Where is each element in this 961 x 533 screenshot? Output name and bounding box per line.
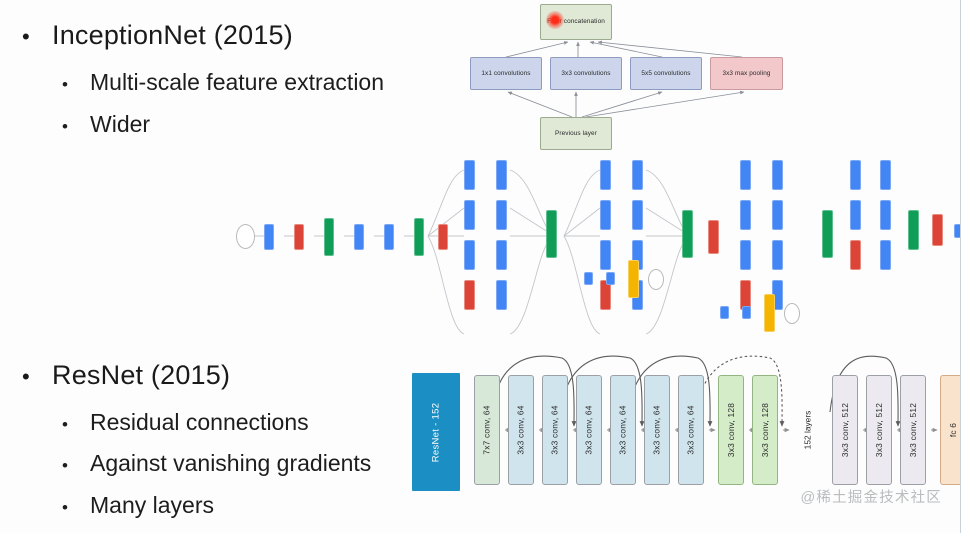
- googlenet-conv-node: [600, 160, 611, 190]
- box-label: 3x3 max pooling: [722, 70, 770, 78]
- googlenet-conv-node: [496, 200, 507, 230]
- bullet-glyph: •: [62, 499, 90, 516]
- googlenet-aux2-fc-node: [720, 306, 729, 319]
- googlenet-conv-node: [464, 200, 475, 230]
- box-label: 1x1 convolutions: [481, 70, 530, 78]
- resnet-block-3x3-conv-128: 3x3 conv, 128: [752, 375, 778, 485]
- resnet-block-3x3-conv-128: 3x3 conv, 128: [718, 375, 744, 485]
- bullet-glyph: •: [62, 76, 90, 93]
- googlenet-conv-node: [496, 280, 507, 310]
- bullet-against-vanishing-gradients: • Against vanishing gradients: [62, 450, 371, 477]
- bullet-glyph: •: [62, 416, 90, 433]
- box-label: Previous layer: [555, 130, 597, 138]
- googlenet-conv-node: [772, 200, 783, 230]
- bullet-glyph: •: [22, 26, 52, 48]
- bullet-text: Multi-scale feature extraction: [90, 69, 384, 96]
- bullet-text: InceptionNet (2015): [52, 20, 293, 51]
- inception-branch-3x3-conv: 3x3 convolutions: [550, 57, 622, 90]
- googlenet-aux1-output-node: [648, 269, 664, 290]
- bullet-text: Residual connections: [90, 409, 309, 436]
- googlenet-input-node: [236, 224, 255, 249]
- googlenet-conv-node: [880, 160, 891, 190]
- bullet-residual-connections: • Residual connections: [62, 409, 309, 436]
- googlenet-conv-node: [600, 200, 611, 230]
- bullet-glyph: •: [62, 457, 90, 474]
- googlenet-conv-node: [264, 224, 274, 250]
- resnet-block-3x3-conv-64: 3x3 conv, 64: [644, 375, 670, 485]
- bullet-resnet-title: • ResNet (2015): [22, 360, 230, 391]
- googlenet-conv-node: [600, 240, 611, 270]
- googlenet-pool-node: [438, 224, 448, 250]
- googlenet-aux2-fc-node: [742, 306, 751, 319]
- googlenet-aux1-softmax-node: [628, 260, 639, 298]
- googlenet-aux1-fc-node: [584, 272, 593, 285]
- resnet-block-3x3-conv-64: 3x3 conv, 64: [576, 375, 602, 485]
- resnet-architecture-diagram: ResNet - 152 7x7 conv, 64 3x3 conv, 64 3…: [412, 352, 961, 497]
- googlenet-pool-node: [850, 240, 861, 270]
- bullet-glyph: •: [22, 366, 52, 388]
- googlenet-pool-node: [932, 214, 943, 246]
- inception-branch-1x1-conv: 1x1 convolutions: [470, 57, 542, 90]
- resnet-block-3x3-conv-64: 3x3 conv, 64: [508, 375, 534, 485]
- resnet-block-3x3-conv-512: 3x3 conv, 512: [866, 375, 892, 485]
- googlenet-norm-node: [414, 218, 424, 256]
- inception-branch-5x5-conv: 5x5 convolutions: [630, 57, 702, 90]
- googlenet-aux2-output-node: [784, 303, 800, 324]
- googlenet-conv-node: [772, 240, 783, 270]
- resnet-name-text: ResNet - 152: [431, 402, 442, 462]
- inception-branch-3x3-max-pooling: 3x3 max pooling: [710, 57, 783, 90]
- googlenet-pool-node: [464, 280, 475, 310]
- googlenet-conv-node: [880, 200, 891, 230]
- resnet-block-3x3-conv-64: 3x3 conv, 64: [610, 375, 636, 485]
- bullet-text: ResNet (2015): [52, 360, 230, 391]
- resnet-name-label: ResNet - 152: [412, 373, 460, 491]
- googlenet-conv-node: [740, 200, 751, 230]
- googlenet-concat-node: [908, 210, 919, 250]
- googlenet-fc-node: [954, 224, 961, 238]
- googlenet-conv-node: [632, 200, 643, 230]
- resnet-block-3x3-conv-512: 3x3 conv, 512: [900, 375, 926, 485]
- googlenet-conv-node: [464, 240, 475, 270]
- googlenet-conv-node: [850, 200, 861, 230]
- bullet-text: Against vanishing gradients: [90, 450, 371, 477]
- watermark-text: @稀土掘金技术社区: [800, 486, 942, 507]
- resnet-block-3x3-conv-64: 3x3 conv, 64: [542, 375, 568, 485]
- googlenet-norm-node: [324, 218, 334, 256]
- resnet-block-7x7-conv-64: 7x7 conv, 64: [474, 375, 500, 485]
- googlenet-pool-node: [294, 224, 304, 250]
- bullet-glyph: •: [62, 118, 90, 135]
- inception-previous-layer-box: Previous layer: [540, 117, 612, 150]
- bullet-text: Many layers: [90, 492, 214, 519]
- googlenet-conv-node: [740, 240, 751, 270]
- bullet-text: Wider: [90, 111, 150, 138]
- googlenet-aux1-fc-node: [606, 272, 615, 285]
- googlenet-architecture-diagram: [228, 148, 961, 310]
- box-label: Filter concatenation: [547, 18, 605, 26]
- bullet-multi-scale-feature-extraction: • Multi-scale feature extraction: [62, 69, 384, 96]
- googlenet-conv-node: [772, 160, 783, 190]
- resnet-block-3x3-conv-64: 3x3 conv, 64: [678, 375, 704, 485]
- slide-canvas: • InceptionNet (2015) • Multi-scale feat…: [0, 0, 961, 533]
- bullet-inceptionnet-title: • InceptionNet (2015): [22, 20, 293, 51]
- googlenet-conv-node: [496, 240, 507, 270]
- googlenet-concat-node: [822, 210, 833, 258]
- googlenet-conv-node: [850, 160, 861, 190]
- googlenet-conv-node: [384, 224, 394, 250]
- resnet-block-fc6: fc 6: [940, 375, 961, 485]
- googlenet-conv-node: [880, 240, 891, 270]
- bullet-many-layers: • Many layers: [62, 492, 214, 519]
- bullet-wider: • Wider: [62, 111, 150, 138]
- googlenet-pool-node: [708, 220, 719, 254]
- googlenet-conv-node: [740, 160, 751, 190]
- resnet-block-3x3-conv-512: 3x3 conv, 512: [832, 375, 858, 485]
- googlenet-conv-node: [632, 160, 643, 190]
- googlenet-aux2-softmax-node: [764, 294, 775, 332]
- resnet-layers-note: 152 layers: [794, 375, 820, 485]
- inception-filter-concatenation-box: Filter concatenation: [540, 4, 612, 40]
- box-label: 5x5 convolutions: [641, 70, 690, 78]
- googlenet-concat-node: [682, 210, 693, 258]
- googlenet-conv-node: [464, 160, 475, 190]
- box-label: 3x3 convolutions: [561, 70, 610, 78]
- googlenet-conv-node: [354, 224, 364, 250]
- googlenet-conv-node: [496, 160, 507, 190]
- googlenet-concat-node: [546, 210, 557, 258]
- inception-module-diagram: Filter concatenation 1x1 convolutions 3x…: [462, 2, 792, 154]
